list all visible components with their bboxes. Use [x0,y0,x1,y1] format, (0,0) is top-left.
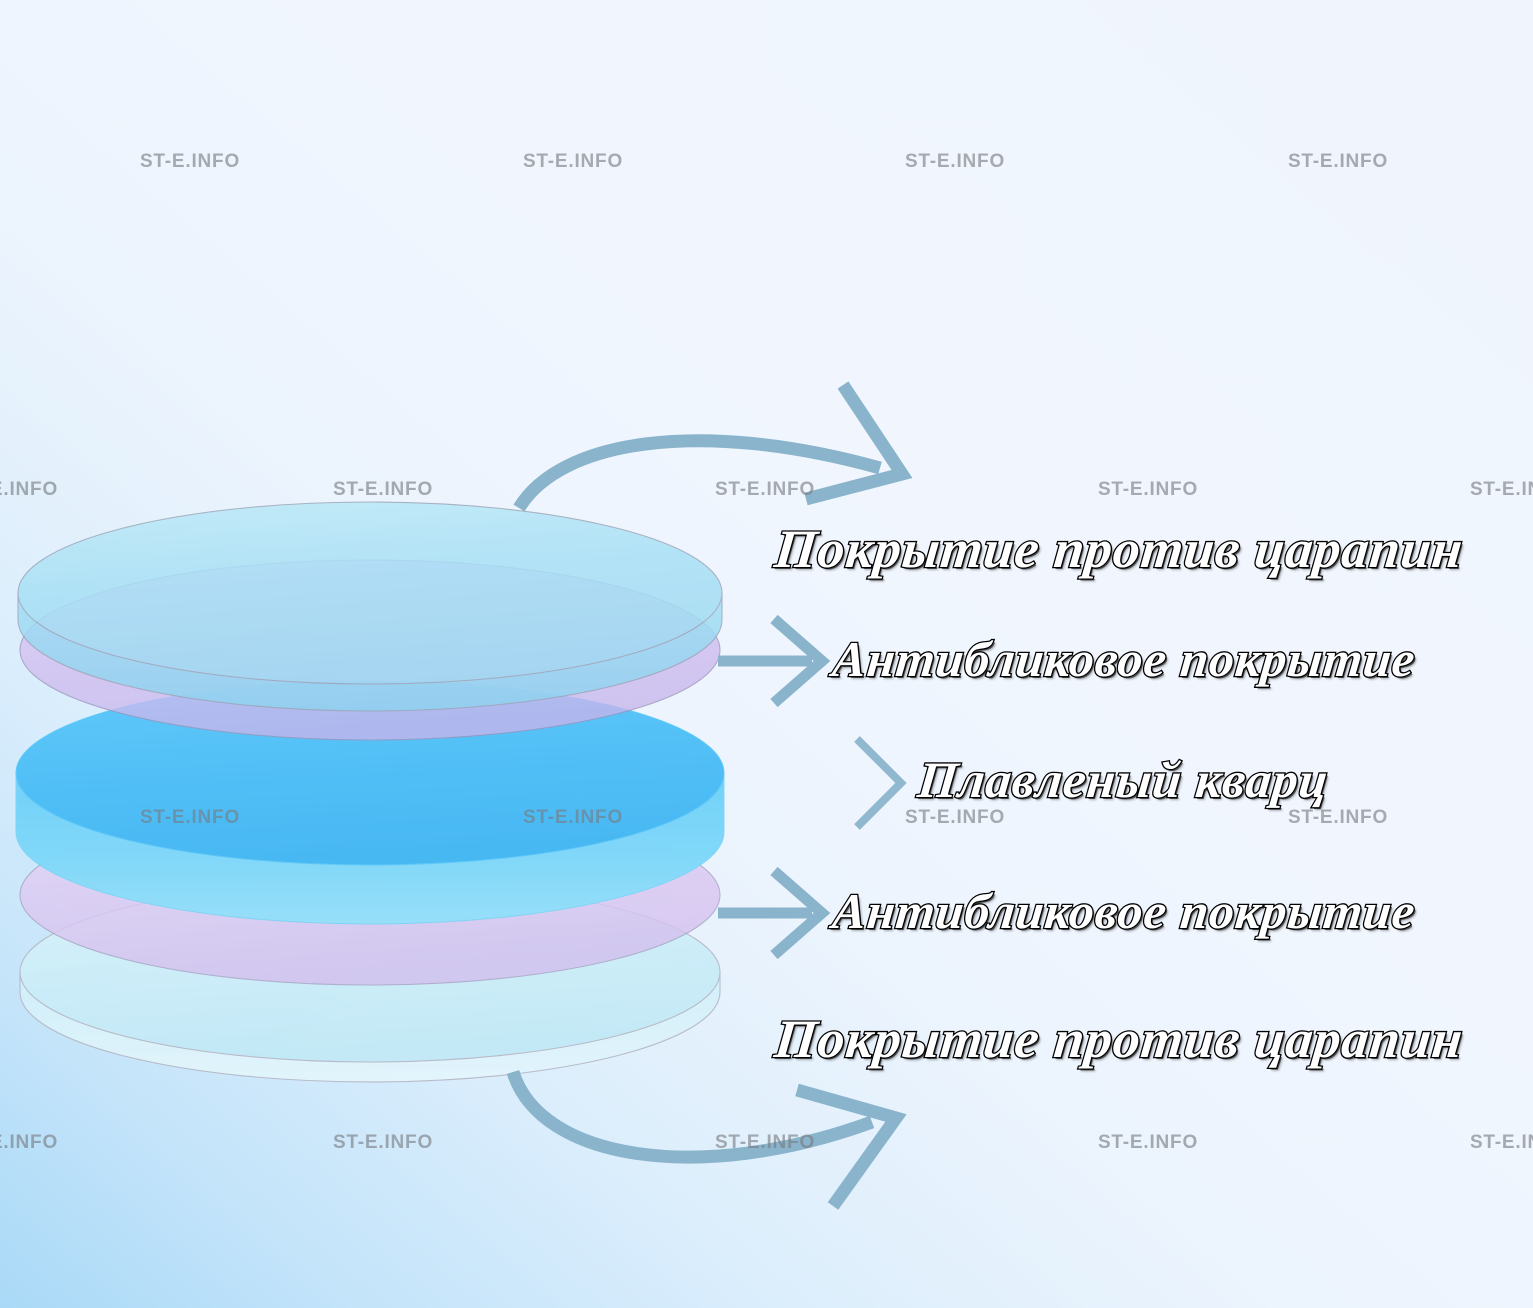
label-scratch-bottom: Покрытие против царапин [775,1008,1463,1070]
glass-layer-stack [0,480,760,1080]
label-ar-top: Антибликовое покрытие [833,630,1416,688]
watermark-text: ST-E.INFO [1098,479,1198,501]
watermark-text: ST-E.INFO [523,151,623,173]
watermark-text: ST-E.INFO [0,1132,58,1154]
watermark-text: ST-E.INFO [1098,1132,1198,1154]
watermark-text: ST-E.INFO [1288,807,1388,829]
watermark-text: ST-E.INFO [1288,151,1388,173]
label-ar-bottom: Антибликовое покрытие [833,882,1416,940]
layer-stack-svg [0,480,760,1100]
label-scratch-top: Покрытие против царапин [775,518,1463,580]
watermark-text: ST-E.INFO [333,1132,433,1154]
watermark-text: ST-E.INFO [905,807,1005,829]
watermark-text: ST-E.INFO [1470,479,1533,501]
watermark-text: ST-E.INFO [1470,1132,1533,1154]
watermark-text: ST-E.INFO [905,151,1005,173]
label-quartz: Плавленый кварц [918,752,1328,810]
watermark-text: ST-E.INFO [140,151,240,173]
disc-scratch-top [18,502,722,711]
slide-canvas: Покрытие против царапин Антибликовое пок… [0,0,1533,1308]
watermark-text: ST-E.INFO [715,1132,815,1154]
